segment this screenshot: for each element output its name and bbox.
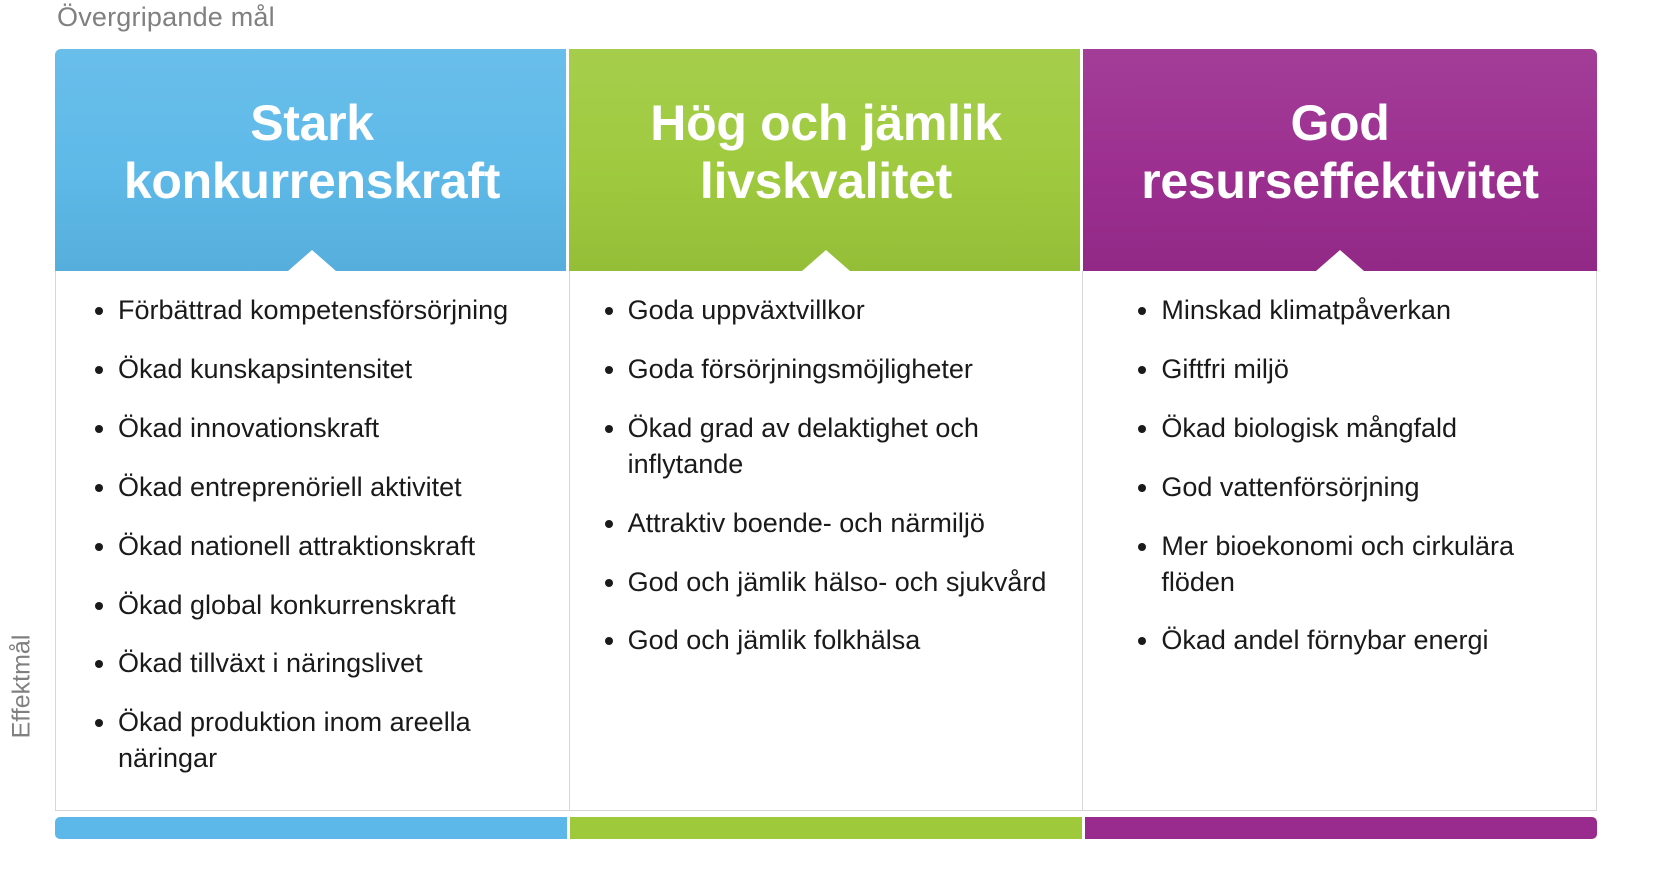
bullet-item: Ökad global konkurrenskraft — [74, 588, 551, 624]
bullet-item: God och jämlik hälso- och sjukvård — [588, 565, 1065, 601]
bullet-item: God och jämlik folkhälsa — [588, 623, 1065, 659]
bullet-item: Ökad produktion inom areella näringar — [74, 705, 551, 777]
overall-goals-caption: Övergripande mål — [57, 2, 275, 33]
bullet-item: Ökad andel förnybar energi — [1121, 623, 1578, 659]
bullet-item: Ökad innovationskraft — [74, 411, 551, 447]
bullet-item: Mer bioekonomi och cirkulära flöden — [1121, 529, 1578, 601]
bottom-strip-segment-green — [567, 817, 1082, 839]
goal-header-title: Hög och jämlik livskvalitet — [636, 94, 1015, 226]
notch-arrow-icon — [288, 250, 336, 271]
goal-overview-diagram: Övergripande mål Effektmål Stark konkurr… — [0, 0, 1654, 886]
notch-arrow-icon — [802, 250, 850, 271]
bottom-strip-segment-purple — [1082, 817, 1597, 839]
goal-headers: Stark konkurrenskraft Hög och jämlik liv… — [55, 49, 1597, 271]
bullet-column-god-resurseffektivitet: Minskad klimatpåverkanGiftfri miljöÖkad … — [1082, 271, 1596, 810]
goal-header-title: Stark konkurrenskraft — [110, 94, 514, 226]
bullet-item: Förbättrad kompetensförsörjning — [74, 293, 551, 329]
bullet-item: Ökad nationell attraktionskraft — [74, 529, 551, 565]
bullet-column-stark-konkurrenskraft: Förbättrad kompetensförsörjningÖkad kuns… — [56, 271, 569, 810]
bullet-item: Ökad kunskapsintensitet — [74, 352, 551, 388]
goal-figure: Stark konkurrenskraft Hög och jämlik liv… — [55, 49, 1597, 837]
goal-header-god-resurseffektivitet: God resurseffektivitet — [1083, 49, 1597, 271]
bottom-color-strip — [55, 817, 1597, 839]
goal-header-hog-och-jamlik-livskvalitet: Hög och jämlik livskvalitet — [569, 49, 1083, 271]
bullet-list: Goda uppväxtvillkorGoda försörjningsmöjl… — [588, 293, 1065, 659]
bullet-item: Ökad biologisk mångfald — [1121, 411, 1578, 447]
bullet-item: Goda uppväxtvillkor — [588, 293, 1065, 329]
notch-arrow-icon — [1316, 250, 1364, 271]
goal-header-title: God resurseffektivitet — [1127, 94, 1553, 226]
bullet-column-hog-och-jamlik-livskvalitet: Goda uppväxtvillkorGoda försörjningsmöjl… — [569, 271, 1083, 810]
bottom-strip-segment-blue — [55, 817, 567, 839]
bullet-item: Ökad tillväxt i näringslivet — [74, 646, 551, 682]
bullet-list: Förbättrad kompetensförsörjningÖkad kuns… — [74, 293, 551, 777]
bullet-item: God vattenförsörjning — [1121, 470, 1578, 506]
bullet-item: Ökad grad av delaktighet och inflytande — [588, 411, 1065, 483]
effect-goals-caption: Effektmål — [8, 607, 37, 767]
bullet-item: Attraktiv boende- och närmiljö — [588, 506, 1065, 542]
bullet-item: Goda försörjningsmöjligheter — [588, 352, 1065, 388]
bullet-item: Giftfri miljö — [1121, 352, 1578, 388]
bullet-list: Minskad klimatpåverkanGiftfri miljöÖkad … — [1101, 293, 1578, 659]
bullet-item: Ökad entreprenöriell aktivitet — [74, 470, 551, 506]
goal-header-stark-konkurrenskraft: Stark konkurrenskraft — [55, 49, 569, 271]
goal-bullet-columns: Förbättrad kompetensförsörjningÖkad kuns… — [55, 271, 1597, 811]
bullet-item: Minskad klimatpåverkan — [1121, 293, 1578, 329]
